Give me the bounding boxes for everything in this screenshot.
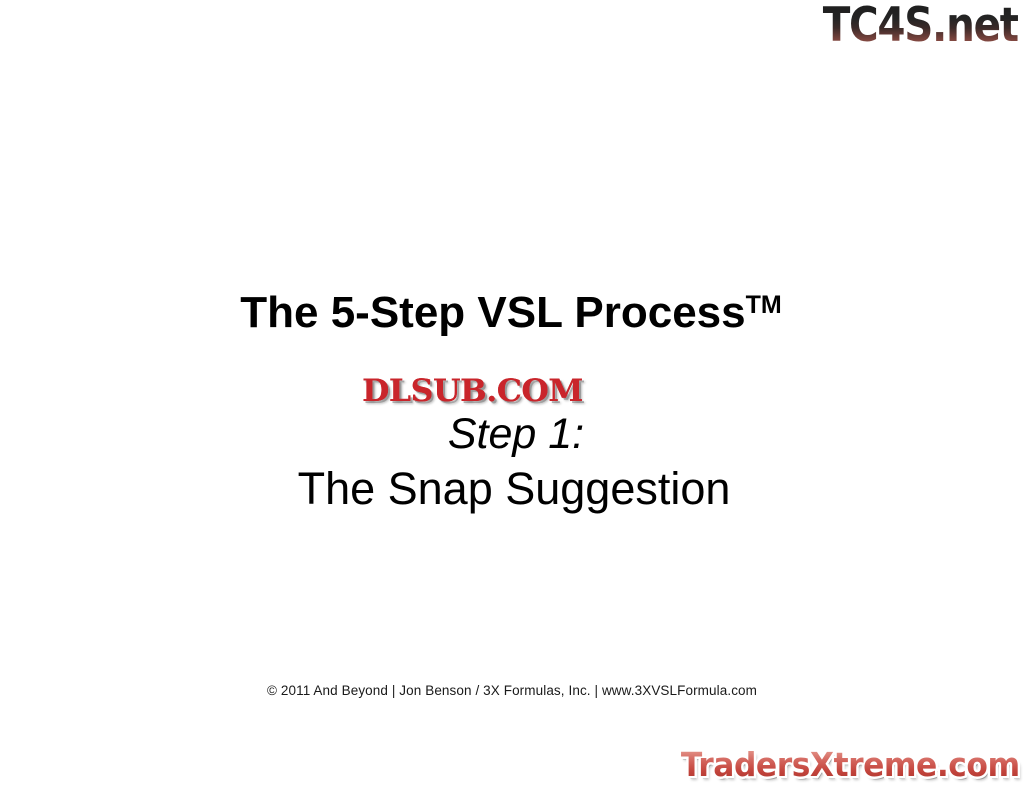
- tc4s-watermark: TC4S.net: [823, 2, 1018, 50]
- dlsub-watermark: DLSUB.COM: [362, 374, 583, 408]
- trademark-symbol: TM: [746, 291, 782, 319]
- subtitle-topic-label: The Snap Suggestion: [4, 461, 1024, 517]
- copyright-footer: © 2011 And Beyond | Jon Benson / 3X Form…: [0, 682, 1024, 699]
- page-title: The 5-Step VSL ProcessTM: [0, 280, 1024, 338]
- presentation-slide: TC4S.net The 5-Step VSL ProcessTM Step 1…: [0, 0, 1024, 791]
- subtitle-block: Step 1: The Snap Suggestion: [0, 408, 1024, 517]
- tradersxtreme-watermark: TradersXtreme.com TradersXtreme.com: [663, 745, 1020, 785]
- tradersxtreme-watermark-fill: TradersXtreme.com: [681, 745, 1020, 784]
- subtitle-step-label: Step 1:: [8, 408, 1024, 461]
- page-title-text: The 5-Step VSL Process: [240, 288, 745, 338]
